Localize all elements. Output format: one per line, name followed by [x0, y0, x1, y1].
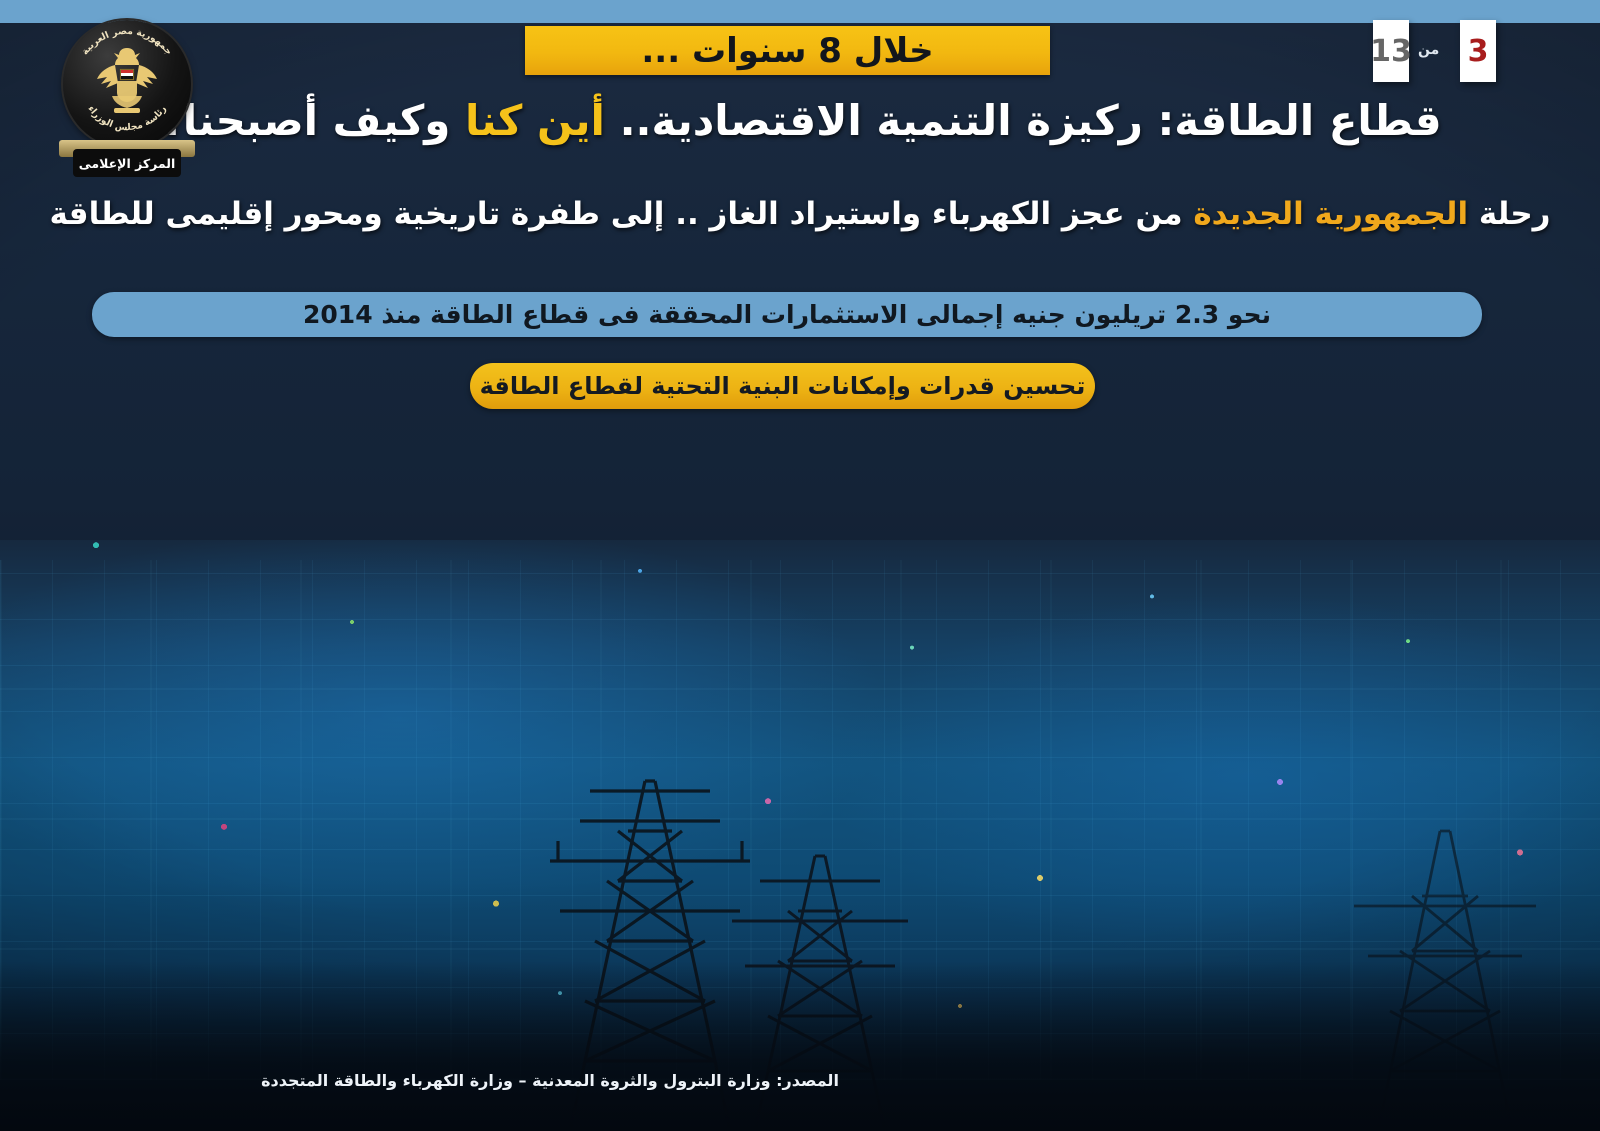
investment-banner: نحو 2.3 تريليون جنيه إجمالى الاستثمارات …	[92, 292, 1482, 337]
page-of-label: من	[1418, 42, 1439, 58]
background	[0, 0, 1600, 1131]
page-total-number: 13	[1370, 34, 1412, 69]
government-logo: جمهورية مصر العربية رئاسة مجلس الوزراء ا…	[47, 18, 207, 193]
page-title: قطاع الطاقة: ركيزة التنمية الاقتصادية.. …	[0, 97, 1600, 145]
background-bottom-fade	[0, 961, 1600, 1131]
page-title-highlight: أين كنا	[465, 96, 605, 145]
page-subtitle-part1: رحلة	[1479, 196, 1551, 232]
logo-nameplate-text: المركز الإعلامى	[79, 156, 176, 171]
page-subtitle: رحلة الجمهورية الجديدة من عجز الكهرباء و…	[0, 196, 1600, 233]
logo-nameplate-band: المركز الإعلامى	[73, 149, 181, 177]
page-total-badge: 13	[1373, 20, 1409, 82]
duration-banner-text: خلال 8 سنوات ...	[641, 31, 933, 71]
page-current-number: 3	[1468, 34, 1489, 69]
logo-nameplate: المركز الإعلامى	[59, 136, 195, 180]
page-subtitle-highlight: الجمهورية الجديدة	[1193, 196, 1468, 232]
eagle-of-saladin-icon	[95, 44, 159, 118]
top-accent-strip	[0, 0, 1600, 23]
section-heading-banner: تحسين قدرات وإمكانات البنية التحتية لقطا…	[470, 363, 1095, 409]
duration-banner: خلال 8 سنوات ...	[525, 26, 1050, 75]
section-heading-text: تحسين قدرات وإمكانات البنية التحتية لقطا…	[480, 372, 1086, 400]
page-title-part1: قطاع الطاقة: ركيزة التنمية الاقتصادية..	[620, 96, 1442, 145]
page-subtitle-part2: من عجز الكهرباء واستيراد الغاز .. إلى طف…	[49, 196, 1182, 232]
investment-banner-text: نحو 2.3 تريليون جنيه إجمالى الاستثمارات …	[303, 300, 1271, 329]
page-current-badge: 3	[1460, 20, 1496, 82]
source-note: المصدر: وزارة البترول والثروة المعدنية –…	[0, 1071, 1100, 1090]
